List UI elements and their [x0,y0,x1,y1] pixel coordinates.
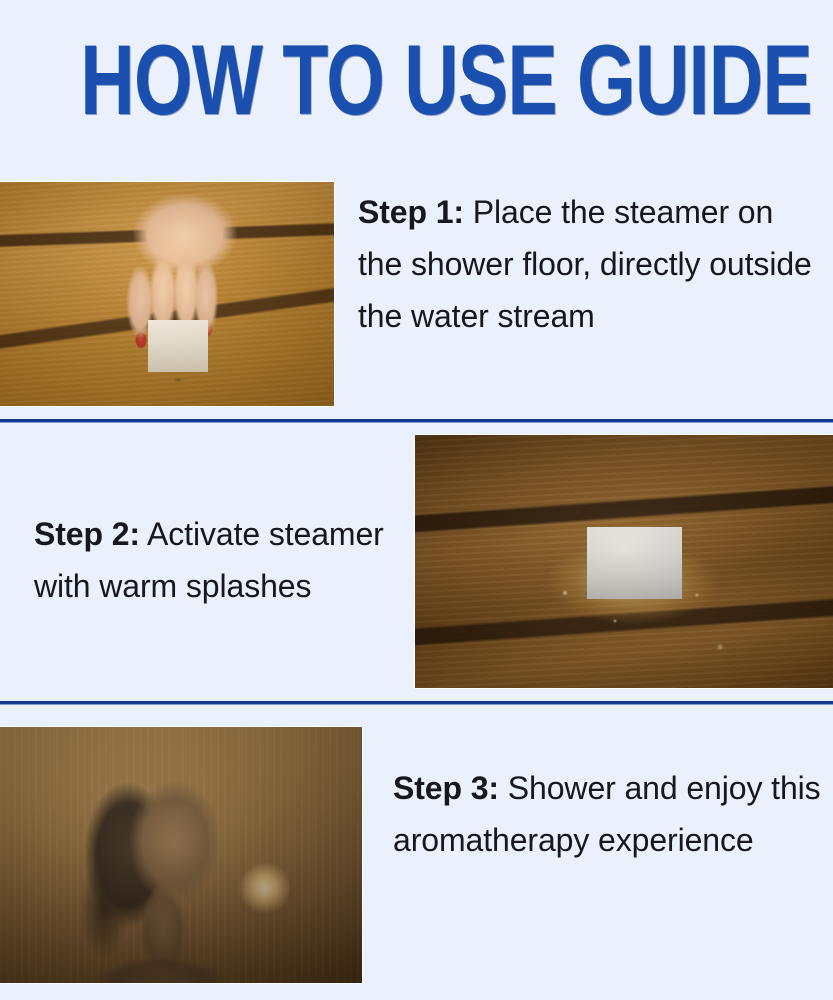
step-3-text: Step 3: Shower and enjoy this aromathera… [393,762,823,866]
step-1-image [0,182,334,406]
step-1-image-content [0,182,334,406]
step-2-image-content [415,435,833,688]
step-2-label: Step 2: [34,516,140,552]
step-3-image [0,727,362,983]
step-3-image-content [0,727,362,983]
page-title-container: HOW TO USE GUIDE [0,36,833,119]
step-2-image [415,435,833,688]
step-3-label: Step 3: [393,770,499,806]
section-divider-2 [0,701,833,704]
page-title: HOW TO USE GUIDE [80,36,812,125]
step-1-label: Step 1: [358,194,464,230]
section-divider-1 [0,419,833,422]
step-2-text: Step 2: Activate steamer with warm splas… [34,508,404,612]
step-1-text: Step 1: Place the steamer on the shower … [358,186,824,342]
